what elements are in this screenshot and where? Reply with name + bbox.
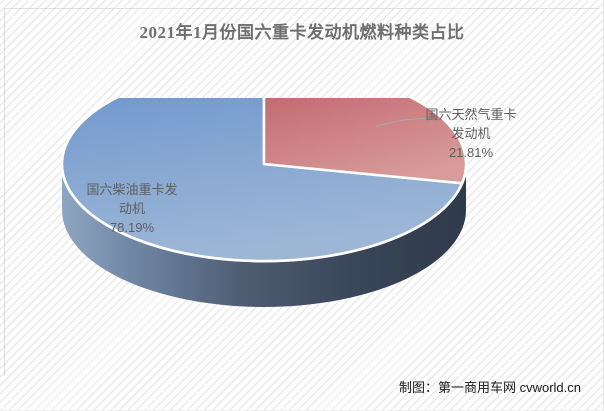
slice-value-natural-gas: 21.81% — [396, 143, 546, 162]
chart-title: 2021年1月份国六重卡发动机燃料种类占比 — [0, 18, 604, 43]
slice-label-diesel: 国六柴油重卡发 动机 78.19% — [62, 180, 202, 237]
slice-label-diesel-line2: 动机 — [119, 201, 145, 216]
footer-credit: 制图：第一商用车网 cvworld.cn — [399, 377, 581, 396]
plot-frame-top — [4, 8, 600, 9]
slice-label-natural-gas-line2: 发动机 — [451, 126, 490, 141]
slice-label-natural-gas-line1: 国六天然气重卡 — [425, 107, 516, 122]
slice-value-diesel: 78.19% — [62, 218, 202, 237]
slice-label-natural-gas: 国六天然气重卡 发动机 21.81% — [396, 105, 546, 162]
pie-chart-figure: 2021年1月份国六重卡发动机燃料种类占比 — [0, 0, 604, 411]
slice-label-diesel-line1: 国六柴油重卡发 — [86, 182, 177, 197]
plot-frame-left — [4, 8, 5, 376]
